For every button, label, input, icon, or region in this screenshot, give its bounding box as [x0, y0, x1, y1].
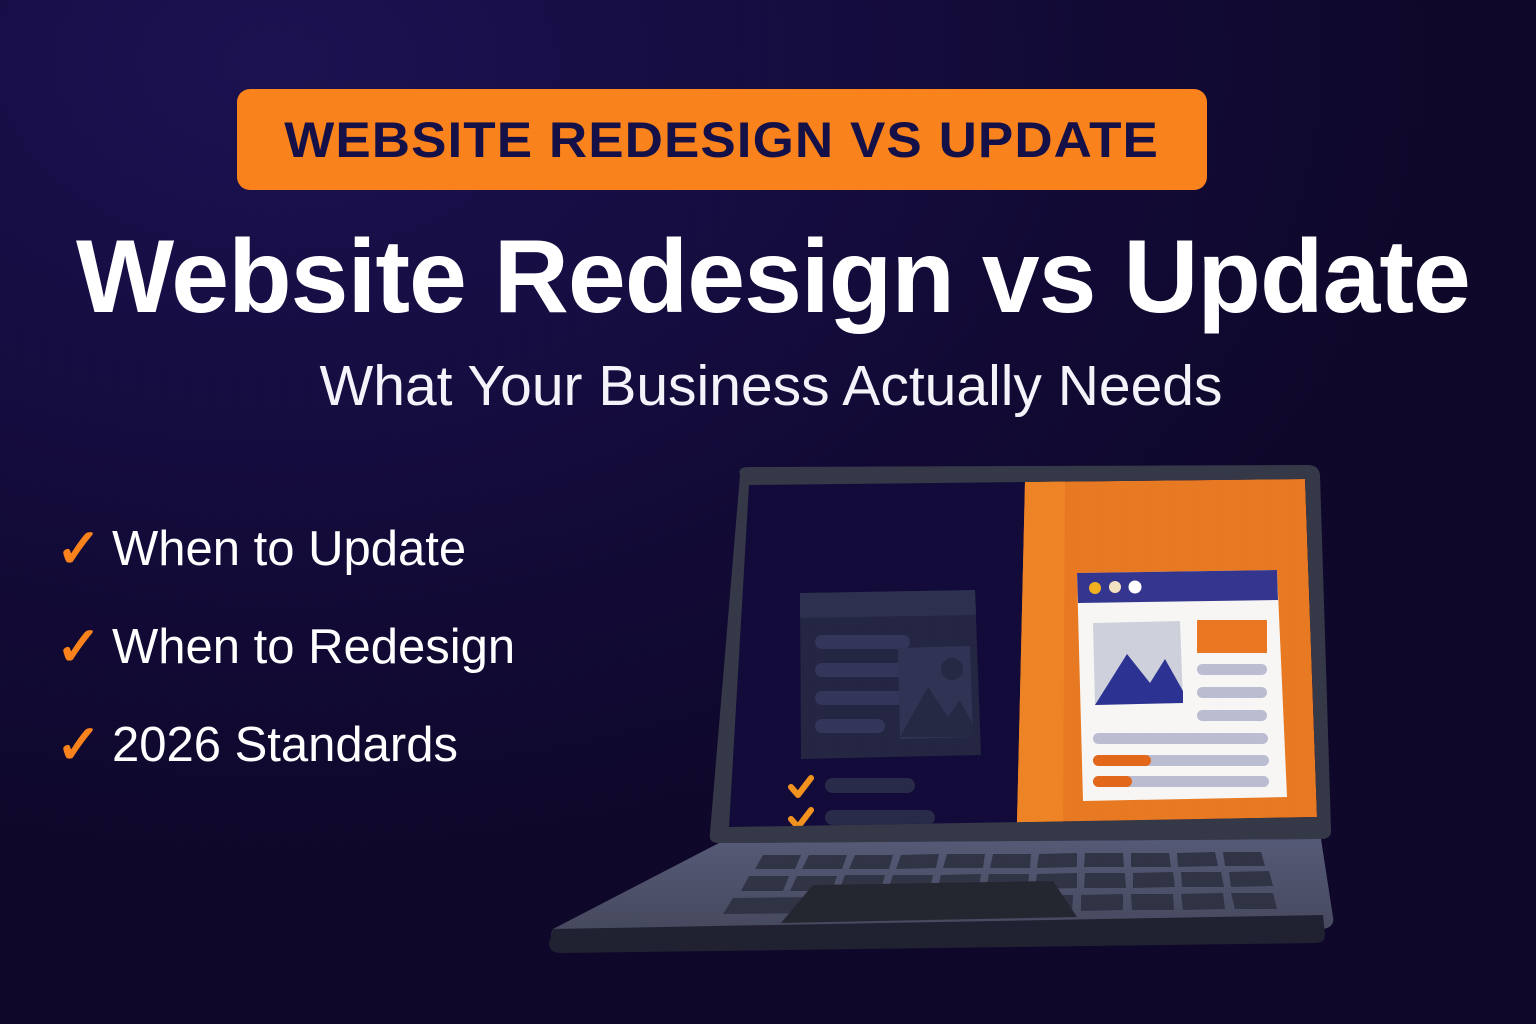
page-title: Website Redesign vs Update	[76, 225, 1466, 329]
check-icon: ✓	[56, 718, 112, 772]
checklist-bar	[825, 810, 935, 825]
titlebar-dot[interactable]	[1089, 582, 1101, 594]
photo-icon	[898, 646, 973, 739]
text-line	[1197, 710, 1267, 721]
text-line	[1197, 664, 1267, 675]
poster-canvas: WEBSITE REDESIGN VS UPDATE Website Redes…	[0, 0, 1536, 1024]
wireframe-text-line	[815, 719, 885, 733]
text-line	[1197, 687, 1267, 698]
wireframe-text-line	[815, 691, 910, 705]
wireframe-card	[800, 590, 981, 759]
progress-bar	[1093, 776, 1269, 787]
titlebar-dot[interactable]	[1129, 581, 1142, 594]
page-subtitle: What Your Business Actually Needs	[76, 358, 1466, 415]
progress-bar	[1093, 755, 1269, 766]
list-item-label: 2026 Standards	[112, 721, 458, 770]
new-website-panel	[1017, 479, 1317, 823]
laptop-base	[549, 839, 1333, 953]
progress-fill	[1093, 776, 1132, 787]
trackpad[interactable]	[781, 881, 1077, 923]
browser-titlebar	[1077, 570, 1278, 603]
checklist-bar	[825, 778, 915, 793]
check-icon: ✓	[56, 620, 112, 674]
laptop-illustration	[505, 465, 1335, 965]
list-item-label: When to Redesign	[112, 623, 515, 672]
browser-window	[1077, 570, 1287, 801]
cta-button[interactable]	[1197, 620, 1267, 653]
laptop-lid	[710, 465, 1331, 843]
eyebrow-badge: WEBSITE REDESIGN VS UPDATE	[237, 89, 1207, 190]
check-icon: ✓	[56, 522, 112, 576]
text-line	[1093, 733, 1268, 744]
hero-image	[1093, 621, 1183, 705]
wireframe-text-line	[815, 663, 910, 677]
progress-fill	[1093, 755, 1151, 766]
titlebar-dot[interactable]	[1109, 581, 1121, 593]
list-item-label: When to Update	[112, 525, 466, 574]
wireframe-text-line	[815, 635, 910, 649]
eyebrow-badge-label: WEBSITE REDESIGN VS UPDATE	[285, 115, 1160, 165]
